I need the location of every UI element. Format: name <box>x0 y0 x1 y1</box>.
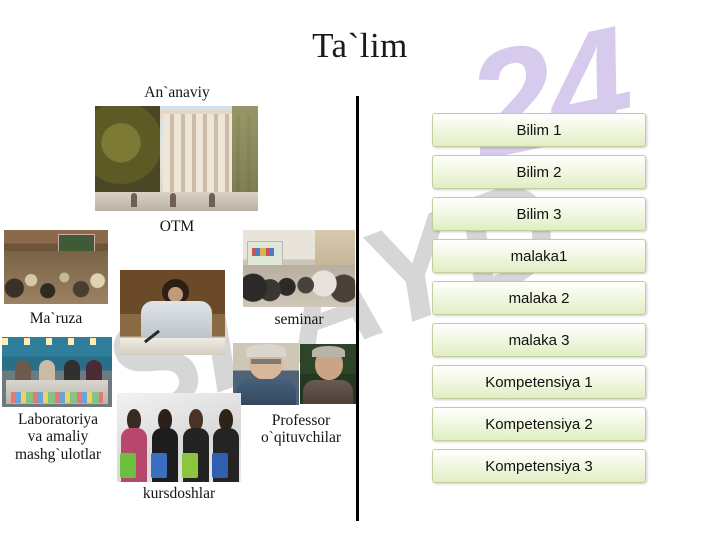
laboratory-practical-work-photo <box>2 337 112 407</box>
seminar-room-photo <box>243 230 355 307</box>
box-kompetensiya-3[interactable]: Kompetensiya 3 <box>432 449 646 483</box>
box-bilim-2[interactable]: Bilim 2 <box>432 155 646 189</box>
box-kompetensiya-1[interactable]: Kompetensiya 1 <box>432 365 646 399</box>
caption-laboratoriya-line3: mashg`ulotlar <box>0 446 116 463</box>
lecture-hall-photo <box>4 230 108 304</box>
box-malaka-2[interactable]: malaka 2 <box>432 281 646 315</box>
caption-otm: OTM <box>97 218 257 235</box>
professor-portrait-photo <box>300 344 356 404</box>
caption-professor-line2: o`qituvchilar <box>243 429 359 446</box>
competency-box-list: Bilim 1 Bilim 2 Bilim 3 malaka1 malaka 2… <box>432 113 646 491</box>
caption-ananaviy: An`anaviy <box>97 84 257 101</box>
caption-professor-line1: Professor <box>243 412 359 429</box>
caption-laboratoriya-line1: Laboratoriya <box>0 411 116 428</box>
box-malaka-1[interactable]: malaka1 <box>432 239 646 273</box>
caption-laboratoriya-line2: va amaliy <box>0 428 116 445</box>
caption-kursdoshlar: kursdoshlar <box>117 485 241 502</box>
box-bilim-3[interactable]: Bilim 3 <box>432 197 646 231</box>
slide-canvas: 24 SLAYD Ta`lim An`anaviy <box>0 0 720 540</box>
caption-seminar: seminar <box>243 311 355 328</box>
box-malaka-3[interactable]: malaka 3 <box>432 323 646 357</box>
caption-maruza: Ma`ruza <box>2 310 110 327</box>
box-kompetensiya-2[interactable]: Kompetensiya 2 <box>432 407 646 441</box>
students-group-photo <box>117 393 241 482</box>
professor-portrait-photo <box>233 343 299 405</box>
caption-professor: Professor o`qituvchilar <box>243 412 359 447</box>
university-building-photo <box>95 106 258 211</box>
caption-laboratoriya: Laboratoriya va amaliy mashg`ulotlar <box>0 411 116 463</box>
vertical-divider <box>356 96 359 521</box>
page-title: Ta`lim <box>0 26 720 66</box>
student-writing-photo <box>120 270 225 355</box>
box-bilim-1[interactable]: Bilim 1 <box>432 113 646 147</box>
